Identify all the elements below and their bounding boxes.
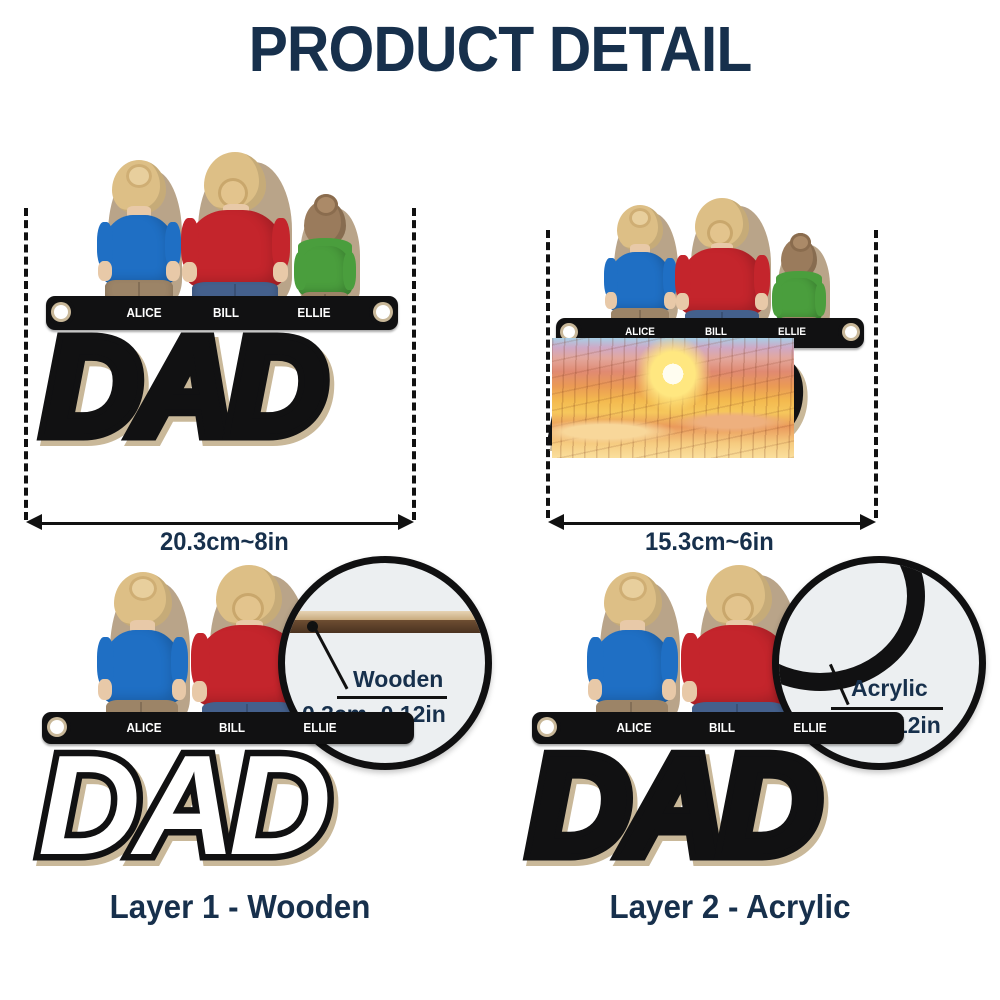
dimension-label-large: 20.3cm~8in — [160, 528, 289, 557]
acrylic-zoom-border — [772, 556, 925, 691]
callout-material-acrylic: Acrylic — [851, 675, 928, 702]
dad-word-stained-glass-small: DAD — [552, 338, 794, 458]
product-detail-page: PRODUCT DETAIL 20.3cm~8in — [0, 0, 1000, 1000]
figure-alice — [92, 160, 188, 310]
figure-alice-small — [600, 205, 682, 333]
figure-alice-wooden — [92, 572, 196, 730]
dimension-guide-right — [412, 208, 416, 520]
callout-underline-acrylic — [831, 707, 943, 710]
dad-word-stained-glass-acrylic: DAD — [528, 735, 814, 877]
acrylic-zoom-sample — [772, 556, 925, 691]
dimension-guide-left-small — [546, 230, 550, 518]
figure-bill — [180, 152, 298, 310]
callout-underline — [337, 696, 447, 699]
callout-material-wooden: Wooden — [353, 666, 443, 693]
dad-word-hollow-center: DAD — [38, 735, 324, 877]
caption-layer-wooden: Layer 1 - Wooden — [50, 888, 430, 926]
dimension-label-small: 15.3cm~6in — [645, 528, 774, 557]
dimension-guide-left — [24, 208, 28, 520]
dad-word-large: DAD DAD DAD — [42, 318, 412, 448]
dad-word-small: DAD DAD DAD — [552, 338, 876, 454]
dad-word-wooden: DAD DAD DAD — [38, 735, 430, 865]
caption-layer-acrylic: Layer 2 - Acrylic — [540, 888, 920, 926]
hanging-hole-right-small — [845, 326, 857, 338]
hanging-hole-right — [376, 305, 390, 319]
dad-word-stained-glass: DAD — [42, 318, 320, 456]
dad-word-acrylic: DAD DAD DAD — [528, 735, 920, 865]
figure-alice-acrylic — [582, 572, 686, 730]
figure-bill-small — [675, 198, 775, 333]
page-title: PRODUCT DETAIL — [40, 14, 960, 84]
